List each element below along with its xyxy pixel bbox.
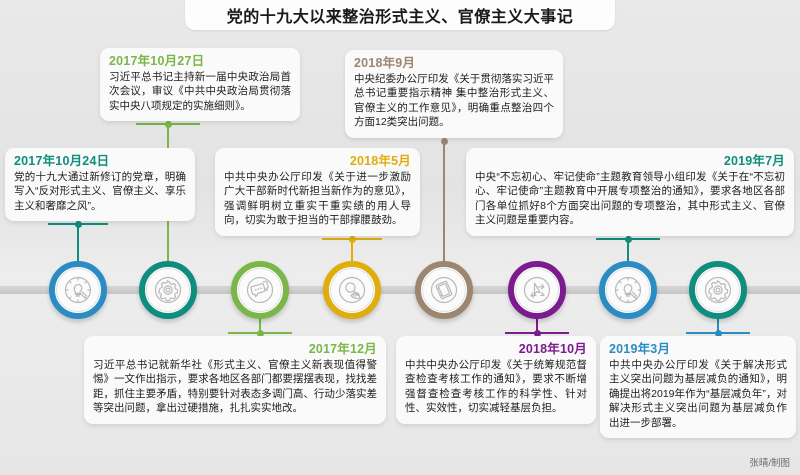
stem-dot (441, 138, 448, 145)
gear-icon (696, 268, 740, 312)
stem-vertical (443, 138, 445, 264)
timeline-node-3[interactable] (231, 261, 289, 319)
timeline-node-1[interactable] (49, 261, 107, 319)
speech-bubbles-icon (238, 268, 282, 312)
event-card-above-4[interactable]: 2018年9月中央纪委办公厅印发《关于贯彻落实习近平总书记重要指示精神 集中整治… (345, 50, 563, 138)
event-card-below-1[interactable]: 2017年12月习近平总书记就新华社《形式主义、官僚主义新表现值得警惕》一文作出… (84, 336, 386, 424)
timeline-node-7[interactable] (599, 261, 657, 319)
stem-dot (625, 236, 632, 243)
event-card-below-2[interactable]: 2018年10月中共中央办公厅印发《关于统筹规范督查检查考核工作的通知》，要求不… (396, 336, 596, 424)
event-date: 2018年10月 (405, 342, 587, 357)
title-banner: 党的十九大以来整治形式主义、官僚主义大事记 (185, 0, 615, 30)
stem-dot (75, 221, 82, 228)
event-text: 习近平总书记主持新一届中央政治局首次会议，审议《中共中央政治局贯彻落实中央八项规… (109, 70, 291, 113)
stem-dot (165, 121, 172, 128)
event-date: 2019年3月 (609, 342, 787, 357)
event-text: 中共中央办公厅印发《关于解决形式主义突出问题为基层减负的通知》，明确提出将201… (609, 358, 787, 430)
magnifier-person-icon (330, 268, 374, 312)
event-text: 中共中央办公厅印发《关于进一步激励广大干部新时代新担当新作为的意见》，强调鲜明树… (224, 170, 411, 228)
event-date: 2018年5月 (224, 154, 411, 169)
lightbulb-icon (56, 268, 100, 312)
event-card-above-1[interactable]: 2017年10月24日党的十九大通过新修订的党章，明确写入“反对形式主义、官僚主… (5, 148, 195, 221)
credit-text: 张晴/制图 (749, 455, 790, 469)
cursor-arrows-icon (515, 268, 559, 312)
timeline-node-2[interactable] (139, 261, 197, 319)
book-icon (422, 268, 466, 312)
timeline-node-5[interactable] (415, 261, 473, 319)
event-text: 党的十九大通过新修订的党章，明确写入“反对形式主义、官僚主义、享乐主义和奢靡之风… (14, 170, 186, 213)
event-date: 2018年9月 (354, 56, 554, 71)
lightbulb-icon (606, 268, 650, 312)
stem-dot (349, 236, 356, 243)
event-date: 2019年7月 (475, 154, 785, 169)
timeline-node-8[interactable] (689, 261, 747, 319)
event-date: 2017年10月27日 (109, 54, 291, 69)
event-card-below-3[interactable]: 2019年3月中共中央办公厅印发《关于解决形式主义突出问题为基层减负的通知》，明… (600, 336, 796, 438)
event-text: 中央纪委办公厅印发《关于贯彻落实习近平总书记重要指示精神 集中整治形式主义、官僚… (354, 72, 554, 130)
gear-icon (146, 268, 190, 312)
event-card-above-2[interactable]: 2017年10月27日习近平总书记主持新一届中央政治局首次会议，审议《中共中央政… (100, 48, 300, 121)
event-date: 2017年10月24日 (14, 154, 186, 169)
timeline-node-6[interactable] (508, 261, 566, 319)
event-card-above-5[interactable]: 2019年7月中央“不忘初心、牢记使命”主题教育领导小组印发《关于在“不忘初心、… (466, 148, 794, 236)
timeline-node-4[interactable] (323, 261, 381, 319)
event-text: 中共中央办公厅印发《关于统筹规范督查检查考核工作的通知》，要求不断增强督查检查考… (405, 358, 587, 416)
event-text: 习近平总书记就新华社《形式主义、官僚主义新表现值得警惕》一文作出指示，要求各地区… (93, 358, 377, 416)
page-title: 党的十九大以来整治形式主义、官僚主义大事记 (227, 3, 574, 27)
event-card-above-3[interactable]: 2018年5月中共中央办公厅印发《关于进一步激励广大干部新时代新担当新作为的意见… (215, 148, 420, 236)
event-date: 2017年12月 (93, 342, 377, 357)
timeline-rail (0, 286, 800, 294)
event-text: 中央“不忘初心、牢记使命”主题教育领导小组印发《关于在“不忘初心、牢记使命”主题… (475, 170, 785, 228)
